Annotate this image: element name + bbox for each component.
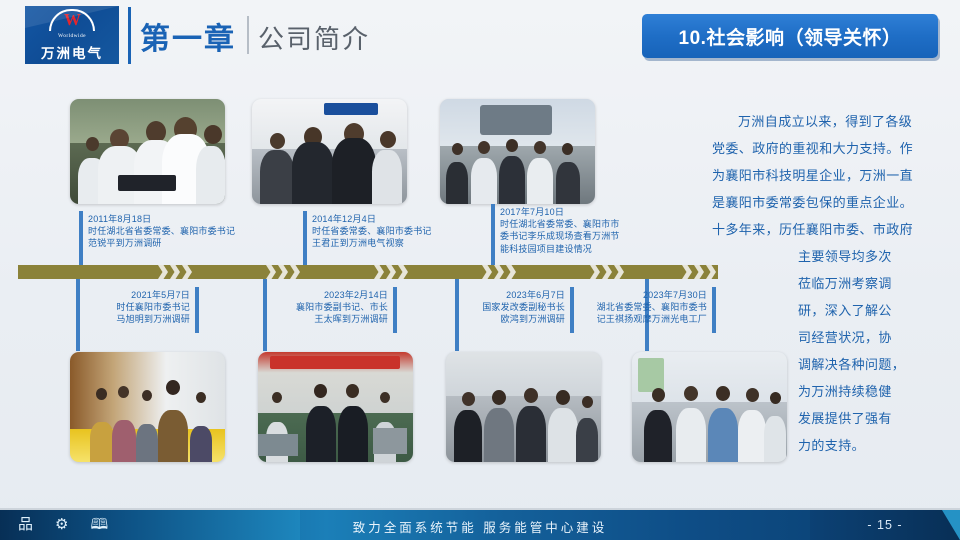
logo-letter: W <box>49 11 95 29</box>
body-line: 莅临万洲考察调 <box>798 270 948 297</box>
caption-2014: 2014年12月4日 时任省委常委、襄阳市委书记 王君正到万洲电气视察 <box>312 213 502 250</box>
company-logo: W Worldwide 万洲电气 <box>25 6 119 64</box>
caption-text-line: 范锐平到万洲调研 <box>88 237 303 249</box>
caption-line-2017 <box>491 204 495 267</box>
caption-text-line: 王太晖到万洲调研 <box>233 313 388 325</box>
photo-2023-06 <box>446 352 601 462</box>
caption-date: 2017年7月10日 <box>500 206 650 218</box>
page-number: - 15 - <box>810 510 960 540</box>
caption-date: 2014年12月4日 <box>312 213 502 225</box>
chevron-icon <box>170 265 180 279</box>
body-line: 司经营状况，协 <box>798 324 948 351</box>
caption-line-2011 <box>79 211 83 267</box>
body-line: 力的支持。 <box>798 432 948 459</box>
photo-2011 <box>70 99 225 204</box>
body-paragraph: 万洲自成立以来，得到了各级 党委、政府的重视和大力支持。作 为襄阳市科技明星企业… <box>712 108 948 459</box>
caption-2017: 2017年7月10日 时任湖北省委常委、襄阳市市 委书记李乐成现场查看万洲节 能… <box>500 206 650 255</box>
header-divider <box>128 7 131 64</box>
chevron-icon <box>374 265 384 279</box>
chevron-icon <box>290 265 300 279</box>
caption-text-line: 时任省委常委、襄阳市委书记 <box>312 225 502 237</box>
body-line: 为襄阳市科技明星企业，万洲一直 <box>712 162 948 189</box>
chevron-icon <box>590 265 600 279</box>
slide-footer: 品 ⚙ 🕮 致力全面系统节能 服务能管中心建设 - 15 - <box>0 510 960 540</box>
caption-date: 2023年6月7日 <box>430 289 565 301</box>
caption-2023-02: 2023年2月14日 襄阳市委副书记、市长 王太晖到万洲调研 <box>233 289 388 326</box>
chevron-icon <box>158 265 168 279</box>
caption-text-line: 能科技园项目建设情况 <box>500 243 650 255</box>
body-line: 党委、政府的重视和大力支持。作 <box>712 135 948 162</box>
caption-line-2023-02 <box>393 287 397 333</box>
chevron-icon <box>182 265 192 279</box>
chevron-icon <box>398 265 408 279</box>
caption-line-2021 <box>195 287 199 333</box>
logo-worldwide-text: Worldwide <box>58 33 86 39</box>
caption-2021: 2021年5月7日 时任襄阳市委书记 马旭明到万洲调研 <box>35 289 190 326</box>
logo-company-name: 万洲电气 <box>41 42 103 62</box>
body-line: 万洲自成立以来，得到了各级 <box>712 108 948 135</box>
caption-text-line: 时任湖北省省委常委、襄阳市委书记 <box>88 225 303 237</box>
timeline-bar <box>18 265 718 279</box>
body-line: 主要领导均多次 <box>798 243 948 270</box>
photo-2023-02 <box>258 352 413 462</box>
caption-text-line: 湖北省委常委、襄阳市委书 <box>560 301 707 313</box>
chevron-icon <box>614 265 624 279</box>
logo-arc-w-icon: W <box>49 9 95 31</box>
caption-text-line: 襄阳市委副书记、市长 <box>233 301 388 313</box>
photo-2021 <box>70 352 225 462</box>
body-line: 为万洲持续稳健 <box>798 378 948 405</box>
slide: W Worldwide 万洲电气 第一章 公司简介 10.社会影响（领导关怀） <box>0 0 960 540</box>
caption-text-line: 时任湖北省委常委、襄阳市市 <box>500 218 650 230</box>
photo-2014 <box>252 99 407 204</box>
caption-date: 2023年2月14日 <box>233 289 388 301</box>
chevron-icon <box>266 265 276 279</box>
caption-line-2014 <box>303 211 307 267</box>
slide-header: W Worldwide 万洲电气 第一章 公司简介 10.社会影响（领导关怀） <box>0 0 960 72</box>
body-line: 发展提供了强有 <box>798 405 948 432</box>
caption-date: 2023年7月30日 <box>560 289 707 301</box>
body-line: 是襄阳市委常委包保的重点企业。 <box>712 189 948 216</box>
chevron-icon <box>602 265 612 279</box>
body-line: 研，深入了解公 <box>798 297 948 324</box>
caption-text-line: 国家发改委副秘书长 <box>430 301 565 313</box>
caption-text-line: 委书记李乐成现场查看万洲节 <box>500 230 650 242</box>
caption-text-line: 时任襄阳市委书记 <box>35 301 190 313</box>
chevron-icon <box>386 265 396 279</box>
photo-2017 <box>440 99 595 204</box>
caption-text-line: 王君正到万洲电气视察 <box>312 237 502 249</box>
chapter-separator <box>247 16 249 54</box>
chevron-icon <box>494 265 504 279</box>
caption-text-line: 记王祺扬观摩万洲光电工厂 <box>560 313 707 325</box>
chevron-icon <box>694 265 704 279</box>
caption-text-line: 欧鸿到万洲调研 <box>430 313 565 325</box>
caption-text-line: 马旭明到万洲调研 <box>35 313 190 325</box>
chapter-subtitle: 公司简介 <box>258 19 370 56</box>
chapter-title: 第一章 <box>140 14 236 58</box>
chevron-icon <box>482 265 492 279</box>
chevron-icon <box>682 265 692 279</box>
chevron-icon <box>506 265 516 279</box>
chevron-icon <box>278 265 288 279</box>
caption-2023-07: 2023年7月30日 湖北省委常委、襄阳市委书 记王祺扬观摩万洲光电工厂 <box>560 289 707 326</box>
caption-date: 2021年5月7日 <box>35 289 190 301</box>
body-line: 十多年来，历任襄阳市委、市政府 <box>712 216 948 243</box>
section-badge: 10.社会影响（领导关怀） <box>642 14 938 58</box>
body-line: 调解决各种问题， <box>798 351 948 378</box>
caption-2011: 2011年8月18日 时任湖北省省委常委、襄阳市委书记 范锐平到万洲调研 <box>88 213 303 250</box>
caption-date: 2011年8月18日 <box>88 213 303 225</box>
caption-2023-06: 2023年6月7日 国家发改委副秘书长 欧鸿到万洲调研 <box>430 289 565 326</box>
